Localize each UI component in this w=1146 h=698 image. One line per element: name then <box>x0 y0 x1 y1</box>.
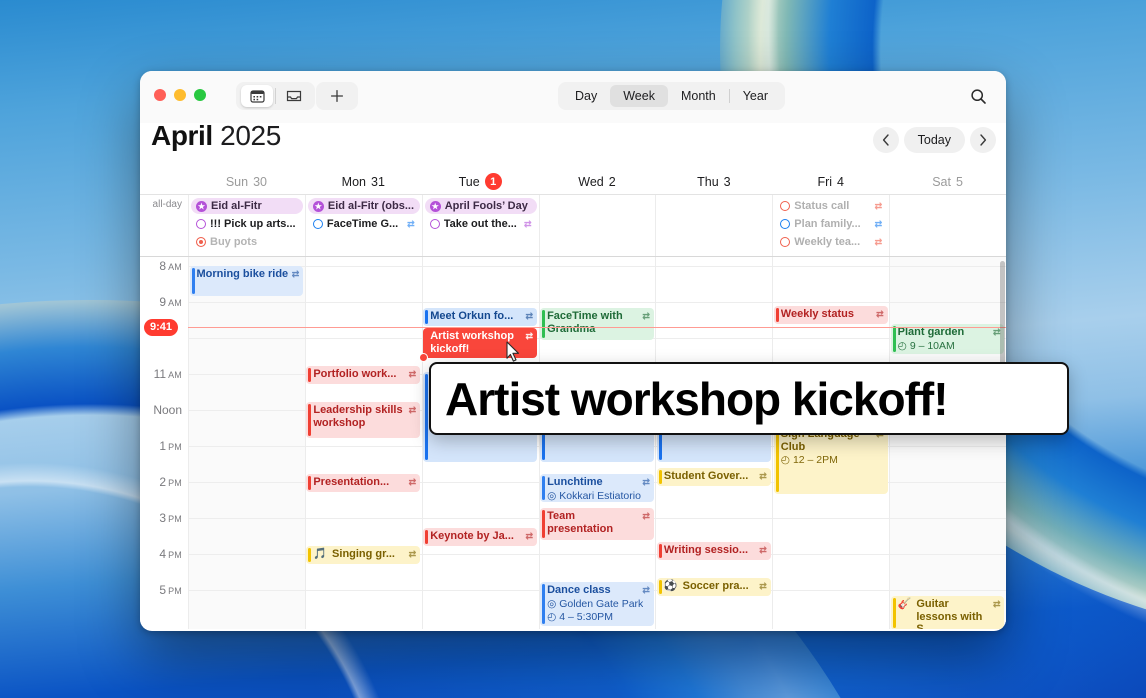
repeat-icon: ⇄ <box>642 476 650 489</box>
hour-number: 3 <box>159 511 166 525</box>
event-title-row: Keynote by Ja...⇄ <box>430 530 533 543</box>
all-day-label: all-day <box>140 195 188 256</box>
all-day-item-label: Weekly tea... <box>794 236 870 248</box>
event-title-row: Leadership skills workshop⇄ <box>313 404 416 429</box>
day-header-thu[interactable]: Thu3 <box>655 169 772 194</box>
all-day-column-5[interactable]: Status call⇄Plan family...⇄Weekly tea...… <box>772 195 889 256</box>
event-title-row: Weekly status⇄ <box>781 308 884 321</box>
all-day-reminder[interactable]: Weekly tea...⇄ <box>775 234 887 250</box>
close-button[interactable] <box>154 89 166 101</box>
inbox-icon[interactable] <box>278 85 310 107</box>
month-label: April <box>151 120 213 151</box>
hour-number: 8 <box>159 259 166 273</box>
hour-number: 1 <box>159 439 166 453</box>
checkbox-checked-icon[interactable] <box>196 237 206 247</box>
event-title: Leadership skills workshop <box>313 404 405 429</box>
star-icon: ★ <box>196 201 207 212</box>
event-time: ◴12 – 2PM <box>781 454 884 467</box>
all-day-reminder[interactable]: Plan family...⇄ <box>775 216 887 232</box>
repeat-icon: ⇄ <box>642 584 650 597</box>
event-color-bar <box>308 476 311 490</box>
day-header-fri[interactable]: Fri4 <box>772 169 889 194</box>
hour-meridiem: PM <box>168 442 182 452</box>
day-name: Sun <box>226 175 248 189</box>
all-day-column-2[interactable]: ★April Fools’ DayTake out the...⇄ <box>422 195 539 256</box>
hour-label-5: 5PM <box>140 583 182 597</box>
hour-meridiem: AM <box>168 370 182 380</box>
calendar-event[interactable]: Portfolio work...⇄ <box>306 366 420 384</box>
zoom-button[interactable] <box>194 89 206 101</box>
all-day-column-3[interactable] <box>539 195 656 256</box>
event-title-row: Dance class⇄ <box>547 584 650 597</box>
day-name: Wed <box>578 175 603 189</box>
event-title: Team presentation <box>547 510 639 535</box>
hour-label-4: 4PM <box>140 547 182 561</box>
day-number: 3 <box>724 175 731 189</box>
event-title-row: Presentation...⇄ <box>313 476 416 489</box>
month-header: April 2025 Today <box>140 123 1006 169</box>
event-title: Plant garden <box>898 326 990 339</box>
day-header-wed[interactable]: Wed2 <box>539 169 656 194</box>
all-day-column-4[interactable] <box>655 195 772 256</box>
hour-number: Noon <box>153 403 182 417</box>
event-color-bar <box>425 310 428 324</box>
event-color-bar <box>659 580 662 594</box>
prev-week-button[interactable] <box>873 127 899 153</box>
page-title: April 2025 <box>151 120 281 152</box>
event-color-bar <box>425 374 428 460</box>
event-title-row: Meet Orkun fo...⇄ <box>430 310 533 323</box>
repeat-icon: ⇄ <box>407 219 415 230</box>
repeat-icon: ⇄ <box>526 310 534 323</box>
checkbox-icon[interactable] <box>313 219 323 229</box>
checkbox-icon[interactable] <box>780 219 790 229</box>
event-resize-handle[interactable] <box>419 353 428 362</box>
all-day-column-0[interactable]: ★Eid al-Fitr!!! Pick up arts...Buy pots <box>188 195 305 256</box>
event-title: Student Gover... <box>664 470 756 483</box>
event-color-bar <box>659 544 662 558</box>
event-title: Singing gr... <box>332 548 406 561</box>
event-title-row: Lunchtime⇄ <box>547 476 650 489</box>
event-color-bar <box>776 308 779 322</box>
hour-label-1: 1PM <box>140 439 182 453</box>
calendar-event[interactable]: FaceTime with Grandma⇄ <box>540 308 654 340</box>
clock-icon: ◴ <box>547 611 556 624</box>
event-time: ◴4 – 5:30PM <box>547 611 650 624</box>
add-event-button[interactable] <box>316 82 358 110</box>
current-time-badge: 9:41 <box>144 319 178 336</box>
hour-label-8: 8AM <box>140 259 182 273</box>
event-color-bar <box>308 404 311 436</box>
checkbox-icon[interactable] <box>780 237 790 247</box>
day-name: Thu <box>697 175 719 189</box>
day-header-sat[interactable]: Sat5 <box>889 169 1006 194</box>
repeat-icon: ⇄ <box>759 544 767 557</box>
event-emoji-icon: 🎵 <box>313 548 327 561</box>
calendar-icon[interactable] <box>241 85 273 107</box>
day-header-tue[interactable]: Tue1 <box>422 169 539 194</box>
event-title: Lunchtime <box>547 476 639 489</box>
repeat-icon: ⇄ <box>409 548 417 561</box>
clock-icon: ◴ <box>781 454 790 467</box>
year-label: 2025 <box>220 120 281 151</box>
search-icon[interactable] <box>964 82 992 110</box>
calendar-event[interactable]: ⚽Soccer pra...⇄ <box>657 578 771 596</box>
repeat-icon: ⇄ <box>759 580 767 593</box>
event-title-row: Portfolio work...⇄ <box>313 368 416 381</box>
checkbox-icon[interactable] <box>196 219 206 229</box>
all-day-item-label: April Fools’ Day <box>445 200 532 212</box>
day-column-divider <box>188 257 189 629</box>
event-title-row: Plant garden⇄ <box>898 326 1001 339</box>
hour-gridline <box>188 266 1006 267</box>
event-time-text: 4 – 5:30PM <box>559 611 613 624</box>
event-time-text: 12 – 2PM <box>793 454 838 467</box>
calendar-event[interactable]: Morning bike ride⇄ <box>190 266 304 296</box>
repeat-icon: ⇄ <box>409 368 417 381</box>
today-badge: 1 <box>485 173 502 190</box>
event-color-bar <box>308 548 311 562</box>
event-title-row: 🎵Singing gr...⇄ <box>313 548 416 561</box>
repeat-icon: ⇄ <box>292 268 300 281</box>
event-color-bar <box>659 470 662 484</box>
all-day-reminder[interactable]: Status call⇄ <box>775 198 887 214</box>
event-title: FaceTime with Grandma <box>547 310 639 335</box>
repeat-icon: ⇄ <box>526 330 534 343</box>
all-day-item-label: !!! Pick up arts... <box>210 218 298 230</box>
hour-number: 2 <box>159 475 166 489</box>
repeat-icon: ⇄ <box>642 510 650 523</box>
hour-meridiem: AM <box>168 298 182 308</box>
event-color-bar <box>893 326 896 352</box>
event-title: Dance class <box>547 584 639 597</box>
repeat-icon: ⇄ <box>526 530 534 543</box>
all-day-reminder[interactable]: Buy pots <box>191 234 303 250</box>
view-month-button[interactable]: Month <box>668 85 729 107</box>
view-mode-toggle <box>236 82 315 110</box>
repeat-icon: ⇄ <box>875 237 883 248</box>
view-week-button[interactable]: Week <box>610 85 668 107</box>
weekend-column-tint <box>188 257 305 629</box>
hour-number: 5 <box>159 583 166 597</box>
minimize-button[interactable] <box>174 89 186 101</box>
event-title-row: FaceTime with Grandma⇄ <box>547 310 650 335</box>
star-icon: ★ <box>313 201 324 212</box>
all-day-item-label: Eid al-Fitr <box>211 200 298 212</box>
all-day-item-label: Status call <box>794 200 870 212</box>
day-column-divider <box>889 257 890 629</box>
day-number: 5 <box>956 175 963 189</box>
hour-meridiem: PM <box>168 586 182 596</box>
hour-meridiem: AM <box>168 262 182 272</box>
hour-meridiem: PM <box>168 478 182 488</box>
day-number: 4 <box>837 175 844 189</box>
grid-rows: 8AM9AM11AMNoon1PM2PM3PM4PM5PM9:41Morning… <box>140 257 1006 629</box>
event-color-bar <box>542 476 545 500</box>
date-navigation: Today <box>873 127 996 153</box>
repeat-icon: ⇄ <box>876 308 884 321</box>
view-year-button[interactable]: Year <box>730 85 781 107</box>
event-color-bar <box>308 368 311 382</box>
day-number: 30 <box>253 175 267 189</box>
event-location: ◎Golden Gate Park <box>547 598 650 611</box>
all-day-item-label: Buy pots <box>210 236 298 248</box>
repeat-icon: ⇄ <box>409 404 417 417</box>
calendar-event[interactable]: Lunchtime⇄◎Kokkari Estiatorio <box>540 474 654 502</box>
all-day-reminder[interactable]: !!! Pick up arts... <box>191 216 303 232</box>
day-number: 2 <box>609 175 616 189</box>
event-color-bar <box>425 330 428 356</box>
all-day-event[interactable]: ★Eid al-Fitr (obs... <box>308 198 420 214</box>
toolbar-divider <box>275 88 276 104</box>
day-name: Fri <box>817 175 832 189</box>
day-name: Sat <box>932 175 951 189</box>
repeat-icon: ⇄ <box>993 598 1001 611</box>
event-location-text: Golden Gate Park <box>559 598 643 611</box>
event-title: Weekly status <box>781 308 873 321</box>
calendar-event[interactable]: Team presentation⇄ <box>540 508 654 540</box>
event-title-row: Team presentation⇄ <box>547 510 650 535</box>
location-icon: ◎ <box>547 490 556 503</box>
repeat-icon: ⇄ <box>875 219 883 230</box>
location-icon: ◎ <box>547 598 556 611</box>
event-title: Writing sessio... <box>664 544 756 557</box>
repeat-icon: ⇄ <box>524 219 532 230</box>
today-button[interactable]: Today <box>904 127 965 153</box>
checkbox-icon[interactable] <box>780 201 790 211</box>
calendar-event[interactable]: Dance class⇄◎Golden Gate Park◴4 – 5:30PM <box>540 582 654 626</box>
event-title: Keynote by Ja... <box>430 530 522 543</box>
event-color-bar <box>542 510 545 538</box>
event-location: ◎Kokkari Estiatorio <box>547 490 650 503</box>
gutter-spacer <box>140 169 188 194</box>
hour-number: 11 <box>154 367 166 381</box>
hour-meridiem: PM <box>168 550 182 560</box>
all-day-event[interactable]: ★Eid al-Fitr <box>191 198 303 214</box>
event-time: ◴9 – 10AM <box>898 340 1001 353</box>
repeat-icon: ⇄ <box>759 470 767 483</box>
event-title: Portfolio work... <box>313 368 405 381</box>
star-icon: ★ <box>430 201 441 212</box>
event-title-row: Student Gover...⇄ <box>664 470 767 483</box>
next-week-button[interactable] <box>970 127 996 153</box>
all-day-item-label: Take out the... <box>444 218 520 230</box>
day-column-divider <box>305 257 306 629</box>
day-header-row: Sun30Mon31Tue1Wed2Thu3Fri4Sat5 <box>140 169 1006 195</box>
hour-label-2: 2PM <box>140 475 182 489</box>
event-title: Soccer pra... <box>683 580 757 593</box>
all-day-item-label: Plan family... <box>794 218 870 230</box>
event-location-text: Kokkari Estiatorio <box>559 490 641 503</box>
all-day-reminder[interactable]: Take out the...⇄ <box>425 216 537 232</box>
current-time-line <box>188 327 1006 328</box>
calendar-event[interactable]: 🎵Singing gr...⇄ <box>306 546 420 564</box>
all-day-column-6[interactable] <box>889 195 1006 256</box>
event-emoji-icon: ⚽ <box>664 580 678 593</box>
calendar-event[interactable]: Weekly status⇄ <box>774 306 888 324</box>
hour-number: 9 <box>159 295 166 309</box>
tooltip-text: Artist workshop kickoff! <box>445 372 948 426</box>
view-day-button[interactable]: Day <box>562 85 610 107</box>
event-color-bar <box>893 598 896 628</box>
calendar-event[interactable]: Keynote by Ja...⇄ <box>423 528 537 546</box>
day-name: Tue <box>459 175 480 189</box>
event-color-bar <box>192 268 195 294</box>
event-title: Guitar lessons with S <box>916 598 990 629</box>
hour-label-noon: Noon <box>140 403 182 417</box>
hour-number: 4 <box>159 547 166 561</box>
hour-meridiem: PM <box>168 514 182 524</box>
event-title-row: ⚽Soccer pra...⇄ <box>664 580 767 593</box>
clock-icon: ◴ <box>898 340 907 353</box>
day-header-mon[interactable]: Mon31 <box>305 169 422 194</box>
repeat-icon: ⇄ <box>409 476 417 489</box>
all-day-item-label: FaceTime G... <box>327 218 403 230</box>
hour-label-11: 11AM <box>140 367 182 381</box>
calendar-event[interactable]: Writing sessio...⇄ <box>657 542 771 560</box>
calendar-event[interactable]: Student Gover...⇄ <box>657 468 771 486</box>
all-day-reminder[interactable]: FaceTime G...⇄ <box>308 216 420 232</box>
event-color-bar <box>542 584 545 624</box>
event-color-bar <box>542 310 545 338</box>
event-emoji-icon: 🎸 <box>898 598 912 611</box>
event-title-row: 🎸Guitar lessons with S⇄ <box>898 598 1001 629</box>
event-title-row: Writing sessio...⇄ <box>664 544 767 557</box>
calendar-event[interactable]: Presentation...⇄ <box>306 474 420 492</box>
event-title: Presentation... <box>313 476 405 489</box>
event-title-row: Morning bike ride⇄ <box>197 268 300 281</box>
time-grid[interactable]: 8AM9AM11AMNoon1PM2PM3PM4PM5PM9:41Morning… <box>140 257 1006 629</box>
event-title: Meet Orkun fo... <box>430 310 522 323</box>
event-color-bar <box>425 530 428 544</box>
calendar-event[interactable]: Meet Orkun fo...⇄ <box>423 308 537 326</box>
calendar-event[interactable]: 🎸Guitar lessons with S⇄ <box>891 596 1005 629</box>
window-toolbar: Day Week Month Year <box>140 71 1006 123</box>
all-day-item-label: Eid al-Fitr (obs... <box>328 200 415 212</box>
calendar-event[interactable]: Plant garden⇄◴9 – 10AM <box>891 324 1005 354</box>
calendar-event[interactable]: Sign Language Club⇄◴12 – 2PM <box>774 426 888 494</box>
calendar-event[interactable]: Leadership skills workshop⇄ <box>306 402 420 438</box>
repeat-icon: ⇄ <box>875 201 883 212</box>
repeat-icon: ⇄ <box>642 310 650 323</box>
all-day-column-1[interactable]: ★Eid al-Fitr (obs...FaceTime G...⇄ <box>305 195 422 256</box>
hour-gridline <box>188 302 1006 303</box>
all-day-row: all-day ★Eid al-Fitr!!! Pick up arts...B… <box>140 195 1006 257</box>
hour-label-3: 3PM <box>140 511 182 525</box>
hour-label-9: 9AM <box>140 295 182 309</box>
view-period-segmented-control: Day Week Month Year <box>558 82 785 110</box>
weekend-column-tint <box>889 257 1006 629</box>
calendar-window: Day Week Month Year April 2025 Today Sun… <box>140 71 1006 631</box>
day-header-sun[interactable]: Sun30 <box>188 169 305 194</box>
day-name: Mon <box>342 175 366 189</box>
event-time-text: 9 – 10AM <box>910 340 955 353</box>
all-day-event[interactable]: ★April Fools’ Day <box>425 198 537 214</box>
traffic-lights <box>154 89 206 101</box>
event-title-tooltip: Artist workshop kickoff! <box>429 362 1069 435</box>
event-title: Morning bike ride <box>197 268 289 281</box>
day-number: 31 <box>371 175 385 189</box>
event-color-bar <box>776 428 779 492</box>
checkbox-icon[interactable] <box>430 219 440 229</box>
